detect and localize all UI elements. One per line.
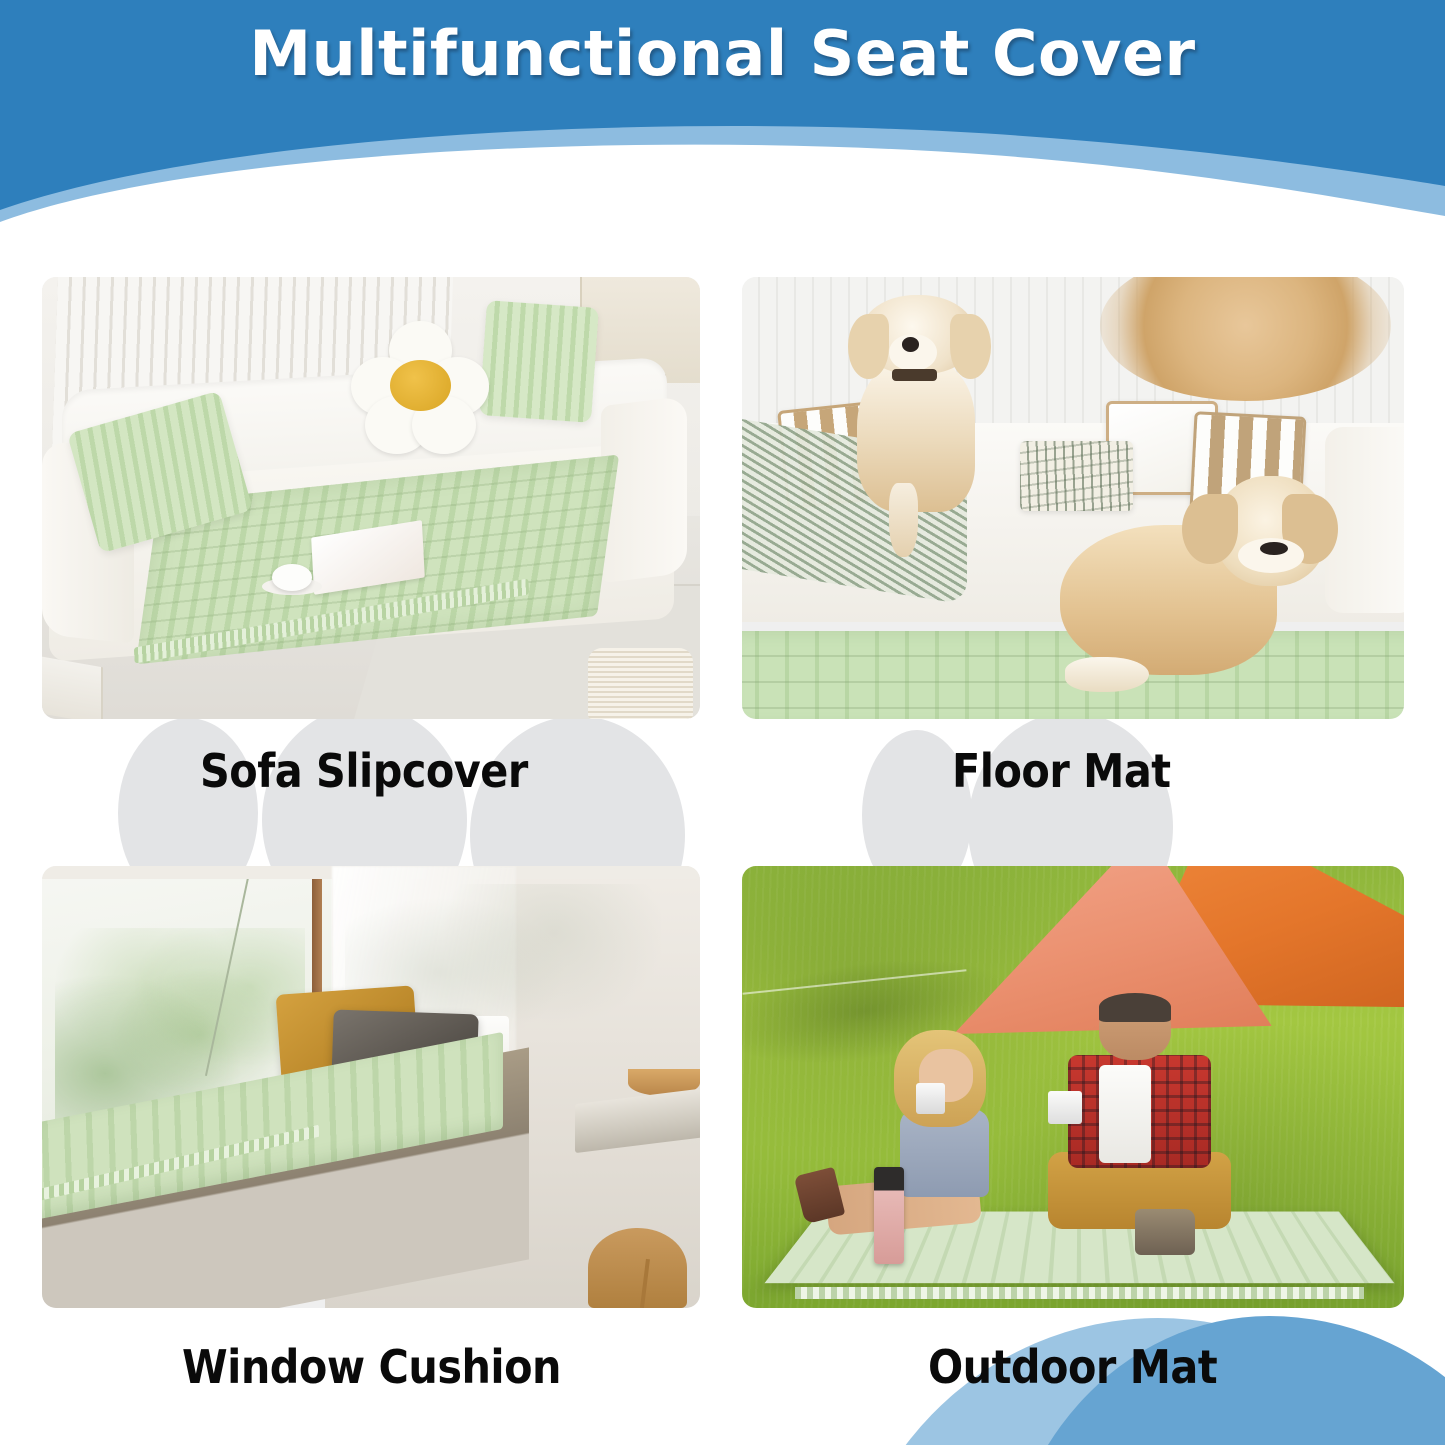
pink-thermos — [874, 1167, 904, 1264]
green-ribbed-pillow-right — [479, 300, 599, 422]
daisy-flower-cushion — [351, 321, 489, 449]
scene-floor-mat — [742, 277, 1404, 719]
dog-sitting — [848, 295, 1007, 543]
man-tshirt — [1099, 1065, 1151, 1162]
caption-floor-mat: Floor Mat — [952, 744, 1171, 798]
caption-sofa-slipcover: Sofa Slipcover — [200, 744, 528, 798]
woman-mug — [916, 1083, 945, 1114]
scene-window-cushion — [42, 866, 700, 1308]
person-woman — [888, 1030, 1047, 1251]
dog-ear-left — [1182, 494, 1238, 565]
sofa-arm-right — [601, 395, 687, 582]
caption-window-cushion: Window Cushion — [182, 1340, 561, 1394]
dog-body — [857, 359, 975, 512]
scene-sofa-slipcover — [42, 277, 700, 719]
man-hair — [1099, 993, 1170, 1021]
caption-outdoor-mat: Outdoor Mat — [928, 1340, 1217, 1394]
book-stack — [42, 656, 103, 719]
dog-collar — [892, 369, 936, 381]
dog-ear-left — [848, 314, 889, 378]
daisy-center — [390, 360, 451, 411]
scene-outdoor-mat — [742, 866, 1404, 1308]
dog-paw — [1065, 657, 1148, 692]
teacup — [272, 564, 311, 591]
product-infographic: Multifunctional Seat Cover — [0, 0, 1445, 1445]
wooden-stool — [588, 1228, 687, 1308]
man-boot — [1135, 1209, 1195, 1255]
dog-nose — [902, 337, 919, 352]
person-man — [1060, 999, 1259, 1255]
outdoor-mat-trim — [795, 1287, 1364, 1299]
dog-leg — [889, 483, 918, 557]
product-photo-outdoor-mat — [742, 866, 1404, 1308]
dog-ear-right — [950, 314, 991, 378]
page-title: Multifunctional Seat Cover — [0, 20, 1445, 88]
product-photo-window-cushion — [42, 866, 700, 1308]
product-photo-floor-mat — [742, 277, 1404, 719]
dog-lying — [1060, 476, 1338, 697]
woven-basket — [588, 648, 693, 719]
product-photo-sofa-slipcover — [42, 277, 700, 719]
man-mug — [1048, 1091, 1082, 1124]
